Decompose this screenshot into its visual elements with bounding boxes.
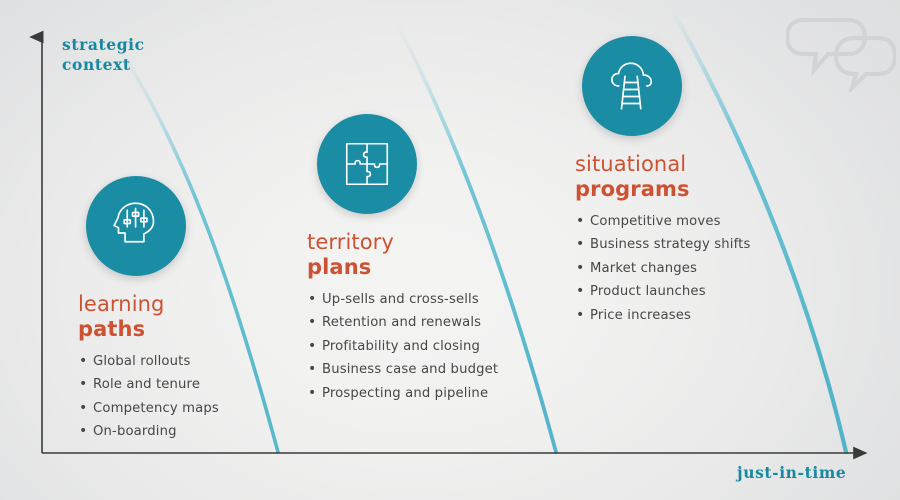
y-axis-label: strategic context xyxy=(62,35,145,76)
list-item: Business case and budget xyxy=(307,362,542,379)
heading-line-2: programs xyxy=(575,177,820,202)
heading-line-1: territory xyxy=(307,230,542,255)
column-territory-plans: territory plans Up-sells and cross-sells… xyxy=(307,114,542,410)
column-learning-paths: learning paths Global rollouts Role and … xyxy=(78,176,293,448)
bullet-list-learning-paths: Global rollouts Role and tenure Competen… xyxy=(78,354,293,442)
heading-situational-programs: situational programs xyxy=(575,152,820,202)
badge-learning-paths[interactable] xyxy=(86,176,186,276)
column-situational-programs: situational programs Competitive moves B… xyxy=(575,36,820,332)
bullet-list-territory-plans: Up-sells and cross-sells Retention and r… xyxy=(307,292,542,403)
badge-situational-programs[interactable] xyxy=(582,36,682,136)
list-item: Prospecting and pipeline xyxy=(307,386,542,403)
list-item: Market changes xyxy=(575,261,820,278)
diagram-canvas: strategic context just-in-time learning … xyxy=(0,0,900,500)
heading-line-1: learning xyxy=(78,292,293,317)
bullet-list-situational-programs: Competitive moves Business strategy shif… xyxy=(575,214,820,325)
list-item: Competitive moves xyxy=(575,214,820,231)
list-item: Competency maps xyxy=(78,401,293,418)
puzzle-icon xyxy=(340,137,394,191)
list-item: Retention and renewals xyxy=(307,315,542,332)
list-item: Global rollouts xyxy=(78,354,293,371)
x-axis-label: just-in-time xyxy=(737,463,846,483)
list-item: Up-sells and cross-sells xyxy=(307,292,542,309)
list-item: Profitability and closing xyxy=(307,339,542,356)
list-item: On-boarding xyxy=(78,424,293,441)
heading-learning-paths: learning paths xyxy=(78,292,293,342)
heading-line-1: situational xyxy=(575,152,820,177)
ladder-to-cloud-icon xyxy=(604,58,660,114)
heading-line-2: plans xyxy=(307,255,542,280)
list-item: Role and tenure xyxy=(78,377,293,394)
badge-territory-plans[interactable] xyxy=(317,114,417,214)
list-item: Product launches xyxy=(575,284,820,301)
list-item: Business strategy shifts xyxy=(575,237,820,254)
head-with-sliders-icon xyxy=(108,198,164,254)
heading-territory-plans: territory plans xyxy=(307,230,542,280)
heading-line-2: paths xyxy=(78,317,293,342)
list-item: Price increases xyxy=(575,308,820,325)
